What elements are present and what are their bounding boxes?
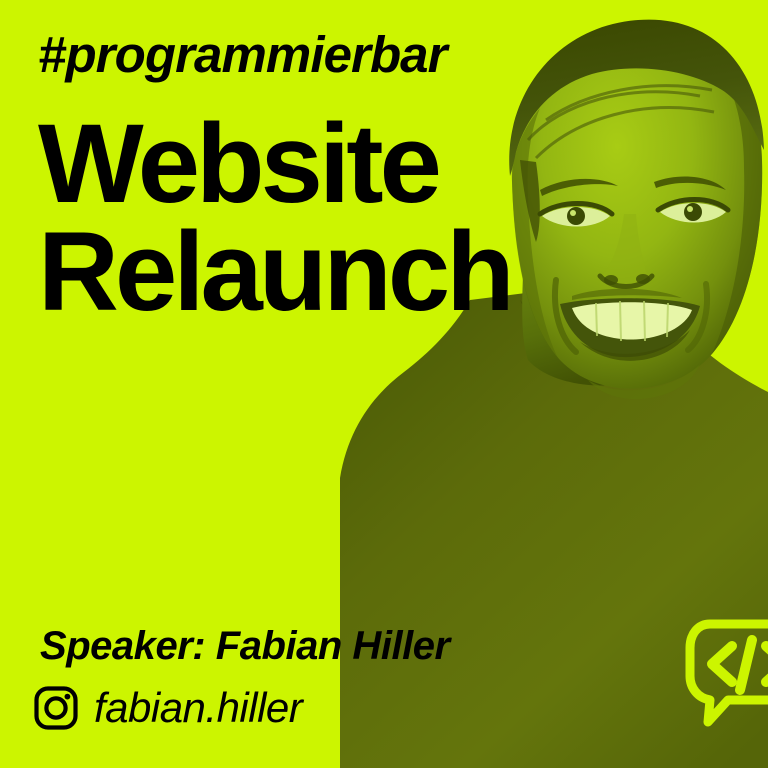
instagram-handle-row[interactable]: fabian.hiller — [32, 684, 302, 732]
page-title: Website Relaunch — [38, 110, 511, 326]
nostril-left — [604, 275, 618, 285]
title-line-2: Relaunch — [38, 218, 511, 326]
brand-hashtag: #programmierbar — [38, 26, 447, 83]
speaker-name: Speaker: Fabian Hiller — [40, 622, 450, 670]
instagram-icon[interactable] — [32, 684, 80, 732]
instagram-handle-text[interactable]: fabian.hiller — [94, 685, 302, 731]
nostril-right — [636, 274, 650, 284]
podcast-announcement-poster: #programmierbar Website Relaunch Speaker… — [0, 0, 768, 768]
title-line-1: Website — [38, 110, 511, 218]
